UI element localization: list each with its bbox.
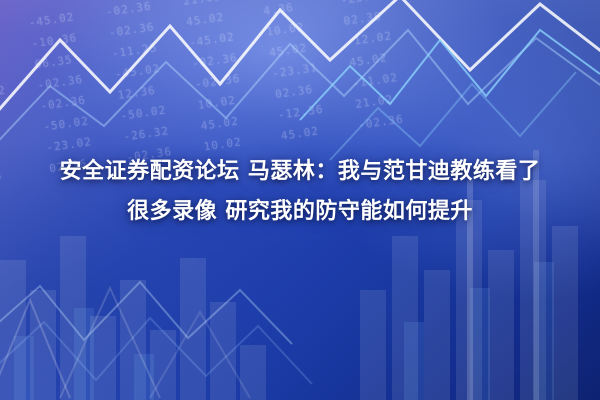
headline-line-1: 安全证券配资论坛 马瑟林：我与范甘迪教练看了 <box>18 152 582 192</box>
headline-text: 安全证券配资论坛 马瑟林：我与范甘迪教练看了 很多录像 研究我的防守能如何提升 <box>0 152 600 232</box>
headline-line-2: 很多录像 研究我的防守能如何提升 <box>18 192 582 232</box>
news-thumbnail-image: -12.36-45.02-02.3621.0245.0210.02 -45.02… <box>0 0 600 400</box>
